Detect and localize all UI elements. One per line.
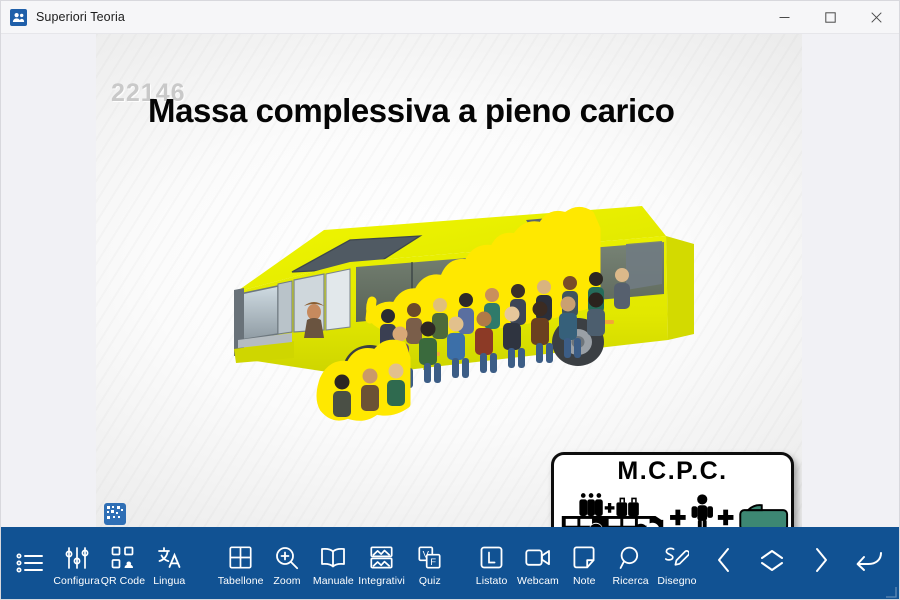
next-button[interactable] bbox=[797, 527, 845, 599]
return-arrow-icon bbox=[854, 547, 884, 573]
disegno-label: Disegno bbox=[657, 576, 696, 587]
chevron-right-icon bbox=[811, 546, 831, 574]
integrativi-label: Integrativi bbox=[358, 576, 405, 587]
search-icon bbox=[619, 544, 643, 572]
list-menu-icon bbox=[16, 549, 44, 577]
magnifier-plus-icon bbox=[275, 544, 299, 572]
manuale-label: Manuale bbox=[313, 576, 354, 587]
resize-grip[interactable] bbox=[885, 586, 897, 598]
bus-illustration bbox=[174, 144, 734, 434]
zoom-button[interactable]: Zoom bbox=[264, 527, 310, 599]
updown-button[interactable] bbox=[748, 527, 796, 599]
chevron-left-icon bbox=[714, 546, 734, 574]
images-icon bbox=[370, 544, 393, 572]
users-icon bbox=[10, 9, 27, 26]
svg-text:F: F bbox=[431, 557, 437, 568]
tabellone-button[interactable]: Tabellone bbox=[218, 527, 264, 599]
slide[interactable]: 22146 Massa complessiva a pieno carico bbox=[96, 34, 802, 527]
listato-button[interactable]: Listato bbox=[468, 527, 514, 599]
note-button[interactable]: Note bbox=[561, 527, 607, 599]
pencil-draw-icon bbox=[664, 544, 689, 572]
video-camera-icon bbox=[525, 544, 551, 572]
configura-label: Configura bbox=[53, 576, 99, 587]
toolbar-gap-2 bbox=[453, 527, 468, 599]
mcpc-formula bbox=[554, 485, 791, 527]
integrativi-button[interactable]: Integrativi bbox=[357, 527, 407, 599]
toolbar-gap-1 bbox=[192, 527, 217, 599]
titlebar: Superiori Teoria bbox=[1, 1, 899, 34]
chevron-up-down-icon bbox=[758, 546, 786, 574]
mcpc-acronym: M.C.P.C. bbox=[554, 457, 791, 486]
minimize-icon[interactable] bbox=[761, 1, 807, 34]
slide-stage: 22146 Massa complessiva a pieno carico bbox=[1, 34, 899, 527]
translate-icon bbox=[157, 544, 182, 572]
tabellone-label: Tabellone bbox=[218, 576, 264, 587]
webcam-label: Webcam bbox=[517, 576, 559, 587]
previous-button[interactable] bbox=[700, 527, 748, 599]
qr-code-icon bbox=[111, 544, 134, 572]
manuale-button[interactable]: Manuale bbox=[310, 527, 356, 599]
qr-code-badge[interactable] bbox=[104, 503, 126, 525]
window-title: Superiori Teoria bbox=[36, 10, 125, 24]
mcpc-badge: M.C.P.C. bbox=[551, 452, 794, 527]
note-label: Note bbox=[573, 576, 596, 587]
grid-table-icon bbox=[229, 544, 252, 572]
quiz-label: Quiz bbox=[419, 576, 441, 587]
qr-code-button[interactable]: QR Code bbox=[100, 527, 146, 599]
maximize-icon[interactable] bbox=[807, 1, 853, 34]
slide-title: Massa complessiva a pieno carico bbox=[148, 92, 802, 130]
ricerca-label: Ricerca bbox=[612, 576, 648, 587]
configura-button[interactable]: Configura bbox=[53, 527, 99, 599]
lingua-button[interactable]: Lingua bbox=[146, 527, 192, 599]
note-page-icon bbox=[573, 544, 595, 572]
app-window: Superiori Teoria 22146 Massa complessiva… bbox=[0, 0, 900, 600]
lingua-label: Lingua bbox=[153, 576, 185, 587]
open-book-icon bbox=[320, 544, 346, 572]
quiz-button[interactable]: V F Quiz bbox=[407, 527, 453, 599]
titlebar-left: Superiori Teoria bbox=[1, 9, 125, 26]
webcam-button[interactable]: Webcam bbox=[515, 527, 561, 599]
vero-falso-card-icon: V F bbox=[418, 544, 441, 572]
disegno-button[interactable]: Disegno bbox=[654, 527, 700, 599]
ricerca-button[interactable]: Ricerca bbox=[607, 527, 653, 599]
sliders-icon bbox=[65, 544, 89, 572]
menu-button[interactable] bbox=[7, 527, 53, 599]
letter-l-box-icon bbox=[480, 544, 503, 572]
close-icon[interactable] bbox=[853, 1, 899, 34]
zoom-label: Zoom bbox=[273, 576, 300, 587]
bottom-toolbar: Configura QR Code bbox=[1, 527, 899, 599]
listato-label: Listato bbox=[476, 576, 508, 587]
qr-code-label: QR Code bbox=[101, 576, 145, 587]
window-controls bbox=[761, 1, 899, 34]
